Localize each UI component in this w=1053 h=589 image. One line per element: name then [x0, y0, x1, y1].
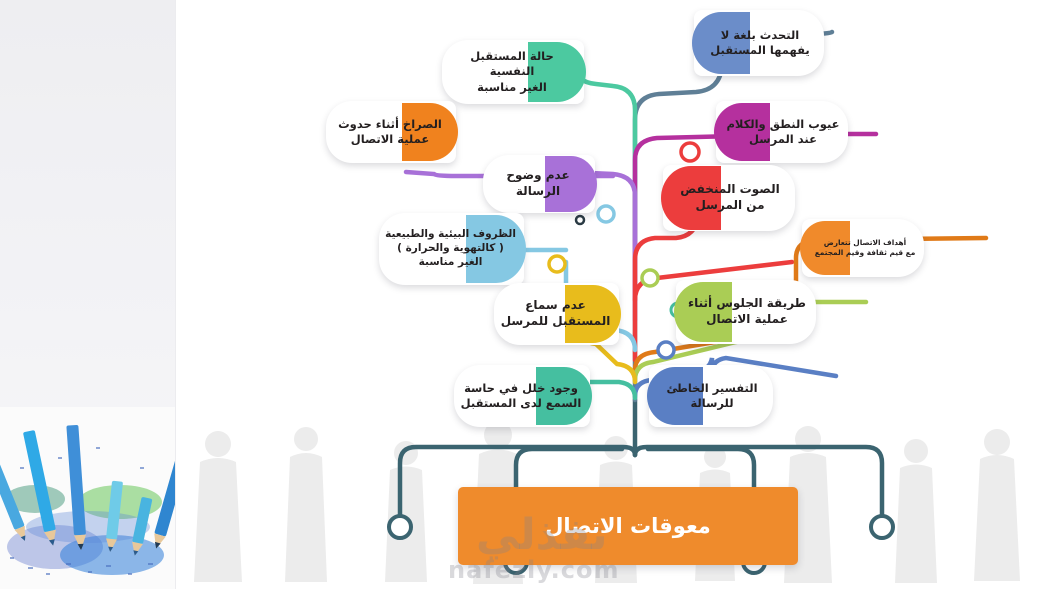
node-n7-label: حالة المستقبل النفسيةالغير مناسبة	[442, 49, 584, 95]
node-n10[interactable]: الظروف البيئية والطبيعية( كالتهوية والحر…	[379, 213, 524, 285]
node-n8[interactable]: الصراخ أثناء حدوثعملية الاتصال	[326, 101, 456, 163]
node-n7[interactable]: حالة المستقبل النفسيةالغير مناسبة	[442, 40, 584, 104]
mindmap-screenshot: التحدث بلغة لايفهمها المستقبل عيوب النطق…	[0, 0, 1053, 589]
node-n3-label: الصوت المنخفضمن المرسل	[663, 182, 795, 214]
node-n6[interactable]: التفسير الخاطئللرسالة	[649, 365, 773, 427]
node-n1[interactable]: التحدث بلغة لايفهمها المستقبل	[694, 10, 824, 76]
branch-dot-red	[681, 143, 699, 161]
node-n4-label: أهداف الاتصال تتعارضمع قيم ثقافة وقيم ال…	[802, 238, 924, 258]
branch-dot-dark	[576, 216, 584, 224]
central-title-box[interactable]: معوقات الاتصال	[458, 487, 798, 565]
pencils-illustration	[0, 407, 176, 589]
node-n11[interactable]: عدم سماعالمستقبل للمرسل	[494, 283, 619, 345]
node-n10-label: الظروف البيئية والطبيعية( كالتهوية والحر…	[379, 228, 524, 270]
node-n9-label: عدم وضوحالرسالة	[483, 168, 595, 200]
node-n6-label: التفسير الخاطئللرسالة	[649, 381, 773, 411]
node-n2[interactable]: عيوب النطق والكلامعند المرسل	[716, 101, 848, 163]
left-decorative-panel	[0, 0, 176, 589]
node-n1-label: التحدث بلغة لايفهمها المستقبل	[694, 28, 824, 58]
node-n12[interactable]: وجود خلل في حاسةالسمع لدى المستقبل	[454, 365, 590, 427]
node-n8-label: الصراخ أثناء حدوثعملية الاتصال	[326, 117, 456, 147]
node-n3[interactable]: الصوت المنخفضمن المرسل	[663, 165, 795, 231]
node-n11-label: عدم سماعالمستقبل للمرسل	[494, 298, 619, 330]
node-n12-label: وجود خلل في حاسةالسمع لدى المستقبل	[454, 381, 590, 411]
branch-dot-blue	[658, 342, 674, 358]
branch-dot-yellow	[549, 256, 565, 272]
node-n5[interactable]: طريقة الجلوس أثناءعملية الاتصال	[676, 280, 816, 344]
node-n5-label: طريقة الجلوس أثناءعملية الاتصال	[676, 296, 816, 328]
node-n4[interactable]: أهداف الاتصال تتعارضمع قيم ثقافة وقيم ال…	[802, 219, 924, 277]
node-n2-label: عيوب النطق والكلامعند المرسل	[716, 117, 848, 147]
branch-dot-lightblue	[598, 206, 614, 222]
colored-pencils-photo	[0, 407, 176, 589]
page-title: معوقات الاتصال	[545, 514, 711, 538]
branch-dot-green	[642, 270, 658, 286]
node-n9[interactable]: عدم وضوحالرسالة	[483, 155, 595, 213]
mindmap-canvas: التحدث بلغة لايفهمها المستقبل عيوب النطق…	[176, 0, 1053, 589]
